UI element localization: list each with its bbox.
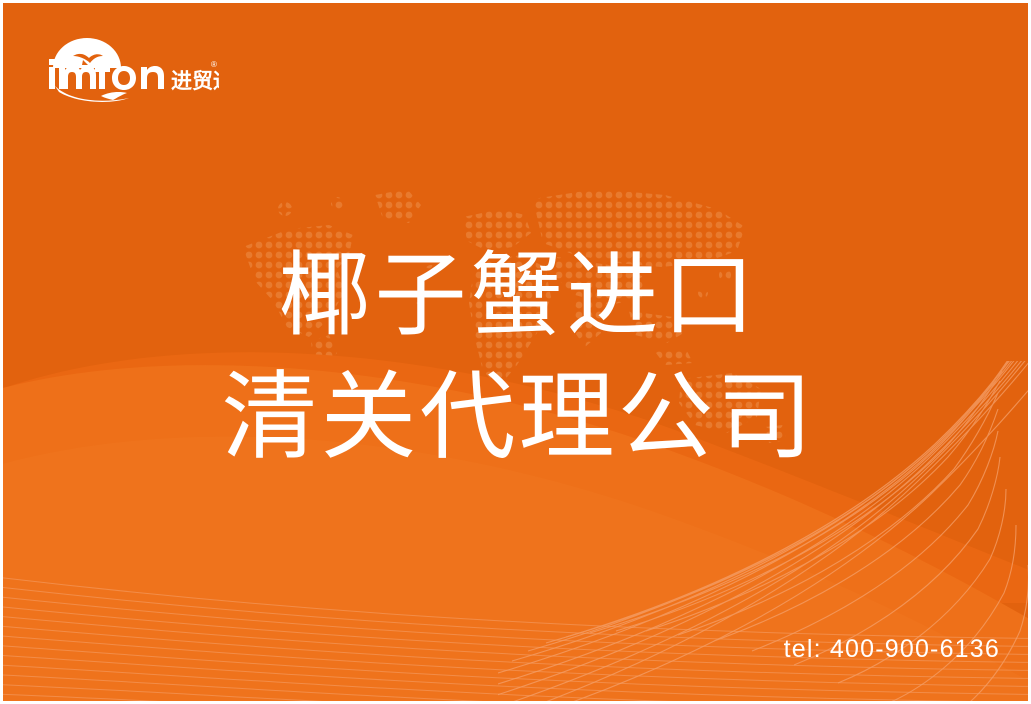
globe-arc-icon [53,38,121,68]
company-logo[interactable]: 进贸通 ® [39,34,219,106]
thin-line-fan-bottom [0,551,1031,704]
registered-mark-icon: ® [211,60,217,69]
contact-phone[interactable]: tel: 400-900-6136 [784,635,1000,664]
headline-line-1: 椰子蟹进口 [3,235,1031,357]
headline-line-2: 清关代理公司 [3,357,1031,479]
promotional-banner: 进贸通 ® 椰子蟹进口 清关代理公司 tel: 400-900-6136 [0,0,1031,704]
logo-chinese-name: 进贸通 [171,69,219,93]
page-title: 椰子蟹进口 清关代理公司 [3,235,1031,479]
